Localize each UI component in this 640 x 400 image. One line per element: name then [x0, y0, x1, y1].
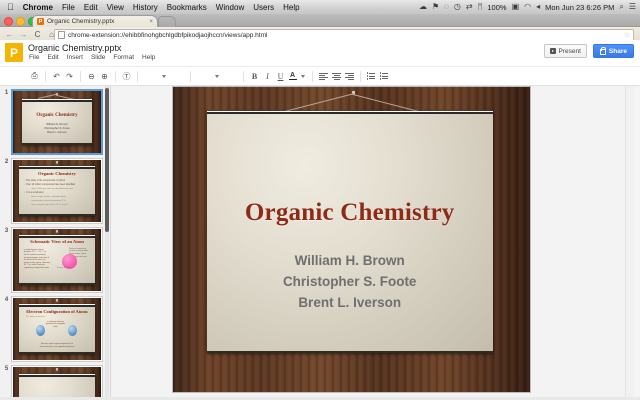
- slide-author: Brent L. Iverson: [207, 292, 493, 313]
- app-menu-bar: File Edit Insert Slide Format Help: [29, 54, 155, 61]
- bullet-item: intermediate in electronegativity (2.5): [29, 200, 91, 203]
- present-label: Present: [559, 48, 581, 55]
- redo-icon[interactable]: ↷: [63, 70, 76, 83]
- numbered-list-button[interactable]: [365, 70, 378, 83]
- screen:  Chrome File Edit View History Bookmark…: [0, 0, 640, 400]
- menu-users[interactable]: Users: [253, 3, 274, 12]
- slide-board: Schematic View of an Atom a small dense …: [19, 235, 95, 284]
- slide-body-left: a small dense nucleus, diameter 10⁻¹⁴ – …: [24, 249, 51, 270]
- chat-icon[interactable]: ◌: [444, 3, 449, 11]
- bullet-item: The study of the compounds of carbon: [24, 180, 91, 183]
- list-item[interactable]: 4 Electron Configuration of Atoms The sp…: [0, 296, 110, 362]
- battery-icon[interactable]: ▣: [512, 3, 520, 11]
- list-item[interactable]: 1 Organic Chemistry William: [0, 89, 110, 155]
- spotlight-search-icon[interactable]: ⌕: [619, 3, 623, 11]
- app-menu-format[interactable]: Format: [113, 54, 134, 61]
- bulleted-list-icon: [380, 72, 390, 80]
- slide-author: Brent L. Iverson: [22, 131, 92, 135]
- nail-icon: [56, 230, 58, 233]
- tab-title: Organic Chemistry.pptx: [47, 18, 149, 25]
- tab-close-icon[interactable]: ×: [149, 18, 153, 25]
- slide-thumbnail-2[interactable]: Organic Chemistry The study of the compo…: [11, 158, 103, 224]
- bullet-item: forms single, double, and triple bonds: [29, 196, 91, 199]
- wifi-icon[interactable]: ◠: [524, 3, 531, 11]
- slide-number: 1: [2, 89, 11, 96]
- align-left-icon: [319, 73, 328, 80]
- slide-background: Electron Configuration of Atoms The spin…: [13, 298, 101, 360]
- slide-title: Electron Configuration of Atoms: [19, 309, 95, 314]
- slide-thumbnail-3[interactable]: Schematic View of an Atom a small dense …: [11, 227, 103, 293]
- slide-thumbnail-5[interactable]: [11, 365, 103, 400]
- menu-edit[interactable]: Edit: [84, 3, 98, 12]
- reload-icon[interactable]: C: [33, 30, 42, 39]
- editor-toolbar: ⎙ ↶ ↷ ⊖ ⊕ Ⓣ B: [0, 67, 640, 86]
- minimize-button[interactable]: [16, 17, 25, 26]
- slide-author: William H. Brown: [207, 250, 493, 271]
- toolbar-separator: [45, 71, 46, 82]
- present-button[interactable]: Present: [544, 44, 587, 58]
- board-bottom-edge: [19, 352, 95, 354]
- chevron-down-icon: [215, 75, 219, 78]
- slide-bullet-list: The study of the compounds of carbon Ove…: [24, 180, 91, 208]
- zoom-in-icon[interactable]: ⊕: [98, 70, 111, 83]
- dropbox-icon[interactable]: ☁: [419, 3, 427, 11]
- slide-caption: 1 nm = 10⁻⁹ m: [57, 267, 70, 270]
- tab-strip: P Organic Chemistry.pptx ×: [0, 14, 640, 27]
- undo-icon[interactable]: ↶: [50, 70, 63, 83]
- app-menu-help[interactable]: Help: [142, 54, 155, 61]
- apple-icon[interactable]: : [7, 3, 14, 12]
- toolbar-separator: [137, 71, 138, 82]
- bluetooth-icon[interactable]: ᛗ: [478, 3, 483, 11]
- font-family-select[interactable]: [142, 75, 186, 78]
- italic-button[interactable]: I: [261, 70, 274, 83]
- board-bottom-edge: [207, 351, 493, 353]
- notification-center-icon[interactable]: ☰: [629, 3, 636, 11]
- slide-number: 3: [2, 227, 11, 234]
- app-logo[interactable]: P: [5, 43, 23, 62]
- battery-percent[interactable]: 100%: [487, 3, 506, 12]
- nail-icon: [56, 161, 58, 164]
- align-center-icon: [332, 73, 341, 80]
- slide-filmstrip[interactable]: 1 Organic Chemistry William: [0, 86, 111, 400]
- share-button[interactable]: Share: [593, 44, 634, 58]
- board-top-edge: [19, 167, 95, 169]
- toolbar-separator: [190, 71, 191, 82]
- text-color-label: A: [290, 72, 295, 79]
- app-page: P Organic Chemistry.pptx File Edit Inser…: [0, 40, 640, 400]
- page-info-icon[interactable]: [58, 31, 65, 39]
- canvas-scroll-track[interactable]: [634, 86, 640, 400]
- lock-icon: [600, 49, 606, 55]
- numbered-list-icon: [367, 72, 377, 80]
- share-label: Share: [609, 48, 627, 55]
- text-color-button[interactable]: A: [287, 72, 298, 81]
- align-left-button[interactable]: [317, 70, 330, 83]
- slide-background: [13, 367, 101, 400]
- bullet-item: C is a small atom: [24, 192, 91, 195]
- clock-datetime[interactable]: Mon Jun 23 6:26 PM: [545, 3, 614, 12]
- header-actions: Present Share: [544, 44, 634, 58]
- clock-sync-icon[interactable]: ◷: [454, 3, 461, 11]
- os-status-area: ☁ ⚑ ◌ ◷ ⇄ ᛗ 100% ▣ ◠ ◂ Mon Jun 23 6:26 P…: [419, 0, 636, 14]
- new-tab-button[interactable]: [158, 16, 176, 27]
- back-icon[interactable]: ←: [5, 30, 14, 39]
- underline-button[interactable]: U: [274, 70, 287, 83]
- slide-title: Organic Chemistry: [22, 113, 92, 118]
- slide-title[interactable]: Organic Chemistry: [207, 199, 493, 227]
- menu-history[interactable]: History: [133, 3, 158, 12]
- chevron-down-icon: [301, 75, 305, 78]
- slide-board: Organic Chemistry William H. Brown Chris…: [22, 99, 92, 145]
- bell-icon[interactable]: ⚑: [432, 3, 439, 11]
- tab-organic-chemistry[interactable]: P Organic Chemistry.pptx ×: [32, 15, 158, 27]
- toolbar-separator: [360, 71, 361, 82]
- address-bar-value: chrome-extension://ehibbfinohgbchlgdbfpi…: [68, 32, 624, 39]
- board-top-edge: [207, 112, 493, 114]
- document-title[interactable]: Organic Chemistry.pptx: [28, 43, 121, 53]
- toolbar-separator: [312, 71, 313, 82]
- chevron-down-icon: [162, 75, 166, 78]
- slide-background: Schematic View of an Atom a small dense …: [13, 229, 101, 291]
- list-item[interactable]: 3 Schematic View of an Atom a small dens…: [0, 227, 110, 293]
- slide-board: Electron Configuration of Atoms The spin…: [19, 304, 95, 353]
- text-color-swatch: [289, 79, 297, 81]
- list-item[interactable]: 5: [0, 365, 110, 400]
- toolbar-separator: [115, 71, 116, 82]
- font-size-select[interactable]: [195, 75, 239, 78]
- board-top-edge: [22, 100, 92, 102]
- os-menu-bar:  Chrome File Edit View History Bookmark…: [0, 0, 640, 15]
- menu-window[interactable]: Window: [216, 3, 244, 12]
- menu-file[interactable]: File: [62, 3, 75, 12]
- menu-help[interactable]: Help: [283, 3, 299, 12]
- nail-icon: [56, 368, 58, 371]
- slide-thumbnail-4[interactable]: Electron Configuration of Atoms The spin…: [11, 296, 103, 362]
- menu-chrome[interactable]: Chrome: [23, 3, 53, 12]
- electron-sphere-left: [36, 325, 45, 336]
- slide-number: 5: [2, 365, 11, 372]
- board-top-edge: [19, 305, 95, 307]
- toolbar-separator: [80, 71, 81, 82]
- slide-background: Organic Chemistry William H. Brown Chris…: [173, 87, 530, 392]
- browser-window: P Organic Chemistry.pptx × ← → C ⌂ chrom…: [0, 14, 640, 400]
- menu-bookmarks[interactable]: Bookmarks: [167, 3, 207, 12]
- align-right-button[interactable]: [343, 70, 356, 83]
- sync-icon[interactable]: ⇄: [466, 3, 473, 11]
- bold-button[interactable]: B: [248, 70, 261, 83]
- slide-background: Organic Chemistry The study of the compo…: [13, 160, 101, 222]
- slide-author-list[interactable]: William H. Brown Christopher S. Foote Br…: [207, 250, 493, 313]
- text-color-dropdown[interactable]: [298, 75, 308, 78]
- app-menu-slide[interactable]: Slide: [91, 54, 105, 61]
- app-menu-edit[interactable]: Edit: [47, 54, 58, 61]
- current-slide[interactable]: Organic Chemistry William H. Brown Chris…: [173, 87, 530, 392]
- app-header: P Organic Chemistry.pptx File Edit Inser…: [0, 40, 640, 67]
- menu-view[interactable]: View: [107, 3, 124, 12]
- board-bottom-edge: [19, 283, 95, 285]
- text-box-icon[interactable]: Ⓣ: [120, 70, 133, 83]
- editor-body: 1 Organic Chemistry William: [0, 86, 640, 400]
- electron-sphere-right: [68, 325, 77, 336]
- board-bottom-edge: [19, 214, 95, 216]
- align-center-button[interactable]: [330, 70, 343, 83]
- print-icon[interactable]: ⎙: [28, 70, 41, 83]
- powerpoint-favicon: P: [37, 18, 44, 25]
- play-icon: [550, 48, 556, 54]
- bullet-item: Over 10 million compounds have been iden…: [24, 184, 91, 187]
- nail-icon: [56, 299, 58, 302]
- align-right-icon: [345, 73, 354, 80]
- slide-title: Schematic View of an Atom: [19, 239, 95, 244]
- bulleted-list-button[interactable]: [378, 70, 391, 83]
- slide-number: 4: [2, 296, 11, 303]
- slide-number: 2: [2, 158, 11, 165]
- slide-subtitle: The spins of electrons: [26, 316, 46, 319]
- bookmark-star-icon[interactable]: ☆: [624, 31, 630, 39]
- board-top-edge: [19, 236, 95, 238]
- bullet-item: about 1000 new ones are identified each …: [29, 188, 91, 191]
- slide-board: Organic Chemistry The study of the compo…: [19, 166, 95, 215]
- slide-board: Organic Chemistry William H. Brown Chris…: [207, 111, 493, 353]
- slide-note-top: a spinning electron generates a magnetic…: [45, 321, 66, 329]
- slide-title: Organic Chemistry: [19, 171, 95, 176]
- app-menu-file[interactable]: File: [29, 54, 39, 61]
- slide-author-list: William H. Brown Christopher S. Foote Br…: [22, 123, 92, 135]
- canvas-right-gutter: [625, 86, 640, 400]
- slide-author: Christopher S. Foote: [207, 271, 493, 292]
- forward-icon[interactable]: →: [19, 30, 28, 39]
- close-button[interactable]: [4, 17, 13, 26]
- slide-note-bottom: Electron spins may be aligned in the sam…: [39, 343, 75, 348]
- slide-canvas-area[interactable]: Organic Chemistry William H. Brown Chris…: [111, 86, 640, 400]
- slide-background: Organic Chemistry William H. Brown Chris…: [13, 91, 101, 153]
- zoom-out-icon[interactable]: ⊖: [85, 70, 98, 83]
- board-bottom-edge: [22, 143, 92, 145]
- volume-icon[interactable]: ◂: [536, 3, 540, 11]
- app-menu-insert[interactable]: Insert: [67, 54, 83, 61]
- list-item[interactable]: 2 Organic Chemistry The study of the com…: [0, 158, 110, 224]
- toolbar-separator: [243, 71, 244, 82]
- board-top-edge: [19, 375, 95, 377]
- slide-thumbnail-1[interactable]: Organic Chemistry William H. Brown Chris…: [11, 89, 103, 155]
- bullet-item: forms strong bonds with C, H, N, and O: [29, 204, 91, 207]
